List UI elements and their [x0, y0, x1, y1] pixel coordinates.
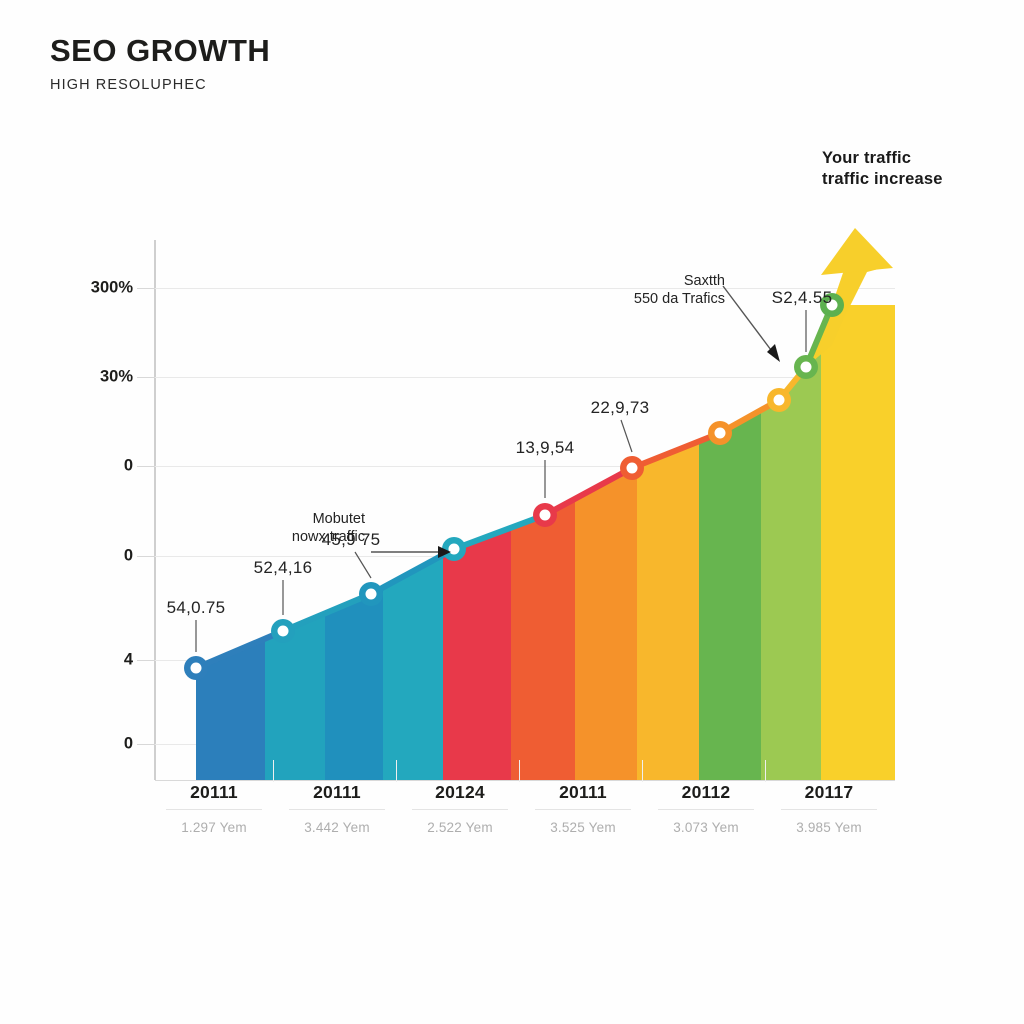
band-5 [443, 180, 511, 780]
point-label-0: 54,0.75 [167, 598, 226, 618]
data-point-marker-inner [191, 663, 202, 674]
x-axis-separator [765, 760, 766, 782]
x-axis-category-3[interactable]: 20111 3.525 Yem [524, 782, 642, 835]
y-tick-mark [137, 377, 155, 378]
y-tick-mark [137, 556, 155, 557]
y-tick-label-5: 0 [45, 735, 133, 754]
x-axis-rule [289, 809, 385, 810]
plot-area: 300% 30% 0 0 4 0 [155, 180, 895, 780]
x-axis-separator [273, 760, 274, 782]
x-axis-sublabel-0: 1.297 Yem [155, 820, 273, 835]
x-axis-category-4[interactable]: 20112 3.073 Yem [647, 782, 765, 835]
x-axis-sublabel-4: 3.073 Yem [647, 820, 765, 835]
data-point-marker-inner [715, 428, 726, 439]
data-point-marker-inner [366, 589, 377, 600]
page-subtitle: HIGH RESOLUPHEC [50, 77, 270, 93]
data-point-marker-inner [774, 395, 785, 406]
band-10 [761, 180, 821, 780]
x-axis-label-2: 20124 [401, 782, 519, 803]
y-tick-label-1: 30% [45, 368, 133, 387]
data-point-marker-inner [627, 463, 638, 474]
x-axis-separator [519, 760, 520, 782]
x-axis-label-5: 20117 [770, 782, 888, 803]
y-tick-label-2: 0 [45, 457, 133, 476]
point-label-4: 22,9,73 [591, 398, 650, 418]
y-tick-label-0: 300% [45, 279, 133, 298]
x-axis-label-0: 20111 [155, 782, 273, 803]
band-8 [637, 180, 699, 780]
x-axis-category-0[interactable]: 20111 1.297 Yem [155, 782, 273, 835]
y-tick-mark [137, 288, 155, 289]
chart-canvas: SEO GROWTH HIGH RESOLUPHEC Your traffic … [0, 0, 1024, 1024]
annotation-social-traffic-line1: Saxtth [535, 272, 725, 290]
x-axis-separator [642, 760, 643, 782]
y-tick-mark [137, 660, 155, 661]
annotation-mobile-traffic: Mobutet nowx traffic [175, 510, 365, 546]
y-tick-mark [137, 744, 155, 745]
x-axis-sublabel-5: 3.985 Yem [770, 820, 888, 835]
point-label-3: 13,9,54 [516, 438, 575, 458]
x-axis-rule [781, 809, 877, 810]
band-1 [196, 180, 265, 780]
area-chart-graphic [155, 180, 895, 780]
x-axis-rule [535, 809, 631, 810]
band-6 [511, 180, 575, 780]
x-axis-separator [396, 760, 397, 782]
x-axis-category-1[interactable]: 20111 3.442 Yem [278, 782, 396, 835]
annotation-mobile-traffic-line2: nowx traffic [175, 528, 365, 546]
x-axis-sublabel-3: 3.525 Yem [524, 820, 642, 835]
x-axis-sublabel-2: 2.522 Yem [401, 820, 519, 835]
y-tick-mark [137, 466, 155, 467]
x-axis-category-5[interactable]: 20117 3.985 Yem [770, 782, 888, 835]
annotation-social-traffic-line2: 550 da Trafics [535, 290, 725, 308]
x-axis-rule [658, 809, 754, 810]
band-4 [383, 180, 443, 780]
band-3 [325, 180, 383, 780]
point-label-1: 52,4,16 [254, 558, 313, 578]
y-tick-label-3: 0 [45, 547, 133, 566]
band-9 [699, 180, 761, 780]
x-axis-sublabel-1: 3.442 Yem [278, 820, 396, 835]
annotation-traffic-increase-line1: Your traffic [822, 148, 943, 169]
y-tick-label-4: 4 [45, 651, 133, 670]
x-axis: 20111 1.297 Yem 20111 3.442 Yem 20124 2.… [155, 782, 895, 857]
band-2 [265, 180, 325, 780]
data-point-marker-inner [449, 544, 460, 555]
x-axis-rule [166, 809, 262, 810]
x-axis-label-3: 20111 [524, 782, 642, 803]
x-axis-label-4: 20112 [647, 782, 765, 803]
annotation-social-traffic: Saxtth 550 da Trafics [535, 272, 725, 308]
data-point-marker-inner [540, 510, 551, 521]
data-point-marker-inner [278, 626, 289, 637]
annotation-mobile-traffic-line1: Mobutet [175, 510, 365, 528]
x-axis-rule [412, 809, 508, 810]
x-axis-category-2[interactable]: 20124 2.522 Yem [401, 782, 519, 835]
x-axis-label-1: 20111 [278, 782, 396, 803]
point-label-5: S2,4.55 [772, 288, 833, 308]
chart-header: SEO GROWTH HIGH RESOLUPHEC [50, 34, 270, 93]
page-title: SEO GROWTH [50, 34, 270, 68]
data-point-marker-inner [801, 362, 812, 373]
